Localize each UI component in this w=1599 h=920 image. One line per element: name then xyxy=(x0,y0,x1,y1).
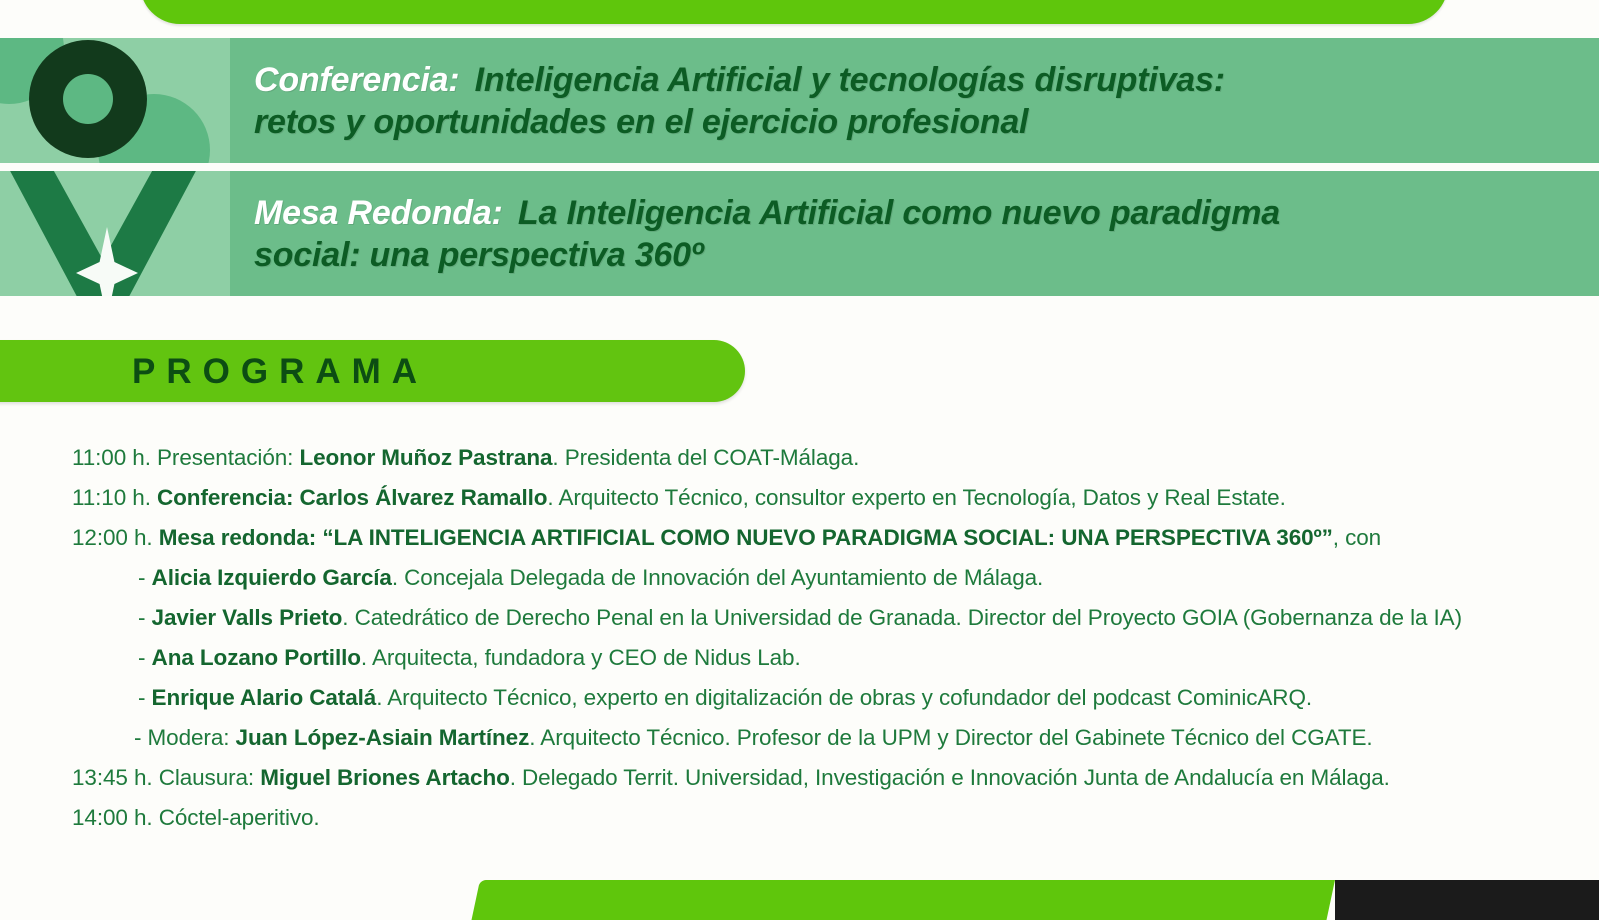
programme-entry: 11:10 h. Conferencia: Carlos Álvarez Ram… xyxy=(72,478,1572,518)
programme-entry: - Javier Valls Prieto. Catedrático de De… xyxy=(72,598,1572,638)
headline-text-conferencia: Conferencia: Inteligencia Artificial y t… xyxy=(230,38,1599,163)
programme-entry-person: Miguel Briones Artacho xyxy=(260,765,510,790)
programme-entry-detail: . Arquitecto Técnico, consultor experto … xyxy=(547,485,1285,510)
programme-entry-role: Conferencia: xyxy=(157,485,299,510)
programme-list: 11:00 h. Presentación: Leonor Muñoz Past… xyxy=(72,438,1572,838)
programme-entry-detail: . Arquitecto Técnico. Profesor de la UPM… xyxy=(529,725,1372,750)
programme-entry-detail: . Delegado Territ. Universidad, Investig… xyxy=(510,765,1390,790)
programme-entry: - Ana Lozano Portillo. Arquitecta, funda… xyxy=(72,638,1572,678)
programme-entry-role: - xyxy=(138,685,152,710)
headline-title-part-1: Inteligencia Artificial y tecnologías di… xyxy=(465,61,1224,99)
programme-entry-role: Clausura: xyxy=(159,765,261,790)
programa-heading: PROGRAMA xyxy=(132,352,428,392)
programme-entry-role: Cóctel-aperitivo. xyxy=(159,805,320,830)
programme-entry-detail: . Arquitecto Técnico, experto en digital… xyxy=(376,685,1312,710)
programme-entry: - Modera: Juan López-Asiain Martínez. Ar… xyxy=(72,718,1572,758)
programme-entry-role: - xyxy=(138,645,152,670)
headline-line-1: Conferencia: Inteligencia Artificial y t… xyxy=(254,60,1573,101)
programme-entry-person: Alicia Izquierdo García xyxy=(152,565,392,590)
programme-entry-detail: , con xyxy=(1333,525,1381,550)
programme-entry-role: Mesa redonda: xyxy=(159,525,323,550)
programme-entry: 12:00 h. Mesa redonda: “LA INTELIGENCIA … xyxy=(72,518,1572,558)
programme-entry: - Alicia Izquierdo García. Concejala Del… xyxy=(72,558,1572,598)
programme-entry-detail: . Concejala Delegada de Innovación del A… xyxy=(392,565,1043,590)
programme-entry: - Enrique Alario Catalá. Arquitecto Técn… xyxy=(72,678,1572,718)
programme-entry-detail: . Arquitecta, fundadora y CEO de Nidus L… xyxy=(361,645,801,670)
programme-entry-detail: . Presidenta del COAT-Málaga. xyxy=(552,445,859,470)
programme-entry-role: - Modera: xyxy=(134,725,236,750)
programme-entry: 11:00 h. Presentación: Leonor Muñoz Past… xyxy=(72,438,1572,478)
programme-entry-role: - xyxy=(138,565,152,590)
programme-entry-person: Carlos Álvarez Ramallo xyxy=(300,485,548,510)
bottom-bar-dark-segment xyxy=(1335,880,1599,920)
headline-line-2: retos y oportunidades en el ejercicio pr… xyxy=(254,102,1573,143)
programme-entry-role: - xyxy=(138,605,152,630)
programme-entry-time: 11:10 h. xyxy=(72,485,157,510)
programme-entry: 13:45 h. Clausura: Miguel Briones Artach… xyxy=(72,758,1572,798)
programme-entry-time: 11:00 h. xyxy=(72,445,157,470)
headline-line-2: social: una perspectiva 360º xyxy=(254,235,1573,276)
headline-title-part-1: La Inteligencia Artificial como nuevo pa… xyxy=(509,194,1280,232)
headline-lead-label: Conferencia: xyxy=(254,61,465,99)
headline-text-mesa-redonda: Mesa Redonda: La Inteligencia Artificial… xyxy=(230,171,1599,296)
headline-line-1: Mesa Redonda: La Inteligencia Artificial… xyxy=(254,193,1573,234)
programme-entry-person: “LA INTELIGENCIA ARTIFICIAL COMO NUEVO P… xyxy=(322,525,1332,550)
programme-entry-person: Leonor Muñoz Pastrana xyxy=(299,445,552,470)
headline-band-conferencia: Conferencia: Inteligencia Artificial y t… xyxy=(0,38,1599,163)
bottom-bar xyxy=(480,880,1599,920)
programme-entry-time: 13:45 h. xyxy=(72,765,159,790)
programme-entry-person: Javier Valls Prieto xyxy=(152,605,343,630)
programme-entry: 14:00 h. Cóctel-aperitivo. xyxy=(72,798,1572,838)
programme-entry-role: Presentación: xyxy=(157,445,299,470)
top-banner xyxy=(140,0,1448,24)
programme-entry-person: Enrique Alario Catalá xyxy=(152,685,377,710)
bottom-bar-green-segment xyxy=(471,880,1335,920)
headline-lead-label: Mesa Redonda: xyxy=(254,194,509,232)
programme-entry-detail: . Catedrático de Derecho Penal en la Uni… xyxy=(342,605,1462,630)
decoration-v-sparkle xyxy=(0,171,230,296)
programme-entry-person: Juan López-Asiain Martínez xyxy=(236,725,530,750)
deco-ring-inner xyxy=(63,74,113,124)
programme-entry-person: Ana Lozano Portillo xyxy=(152,645,361,670)
headline-band-mesa-redonda: Mesa Redonda: La Inteligencia Artificial… xyxy=(0,171,1599,296)
programme-entry-time: 12:00 h. xyxy=(72,525,159,550)
programme-entry-time: 14:00 h. xyxy=(72,805,159,830)
decoration-circle-ring xyxy=(0,38,230,163)
